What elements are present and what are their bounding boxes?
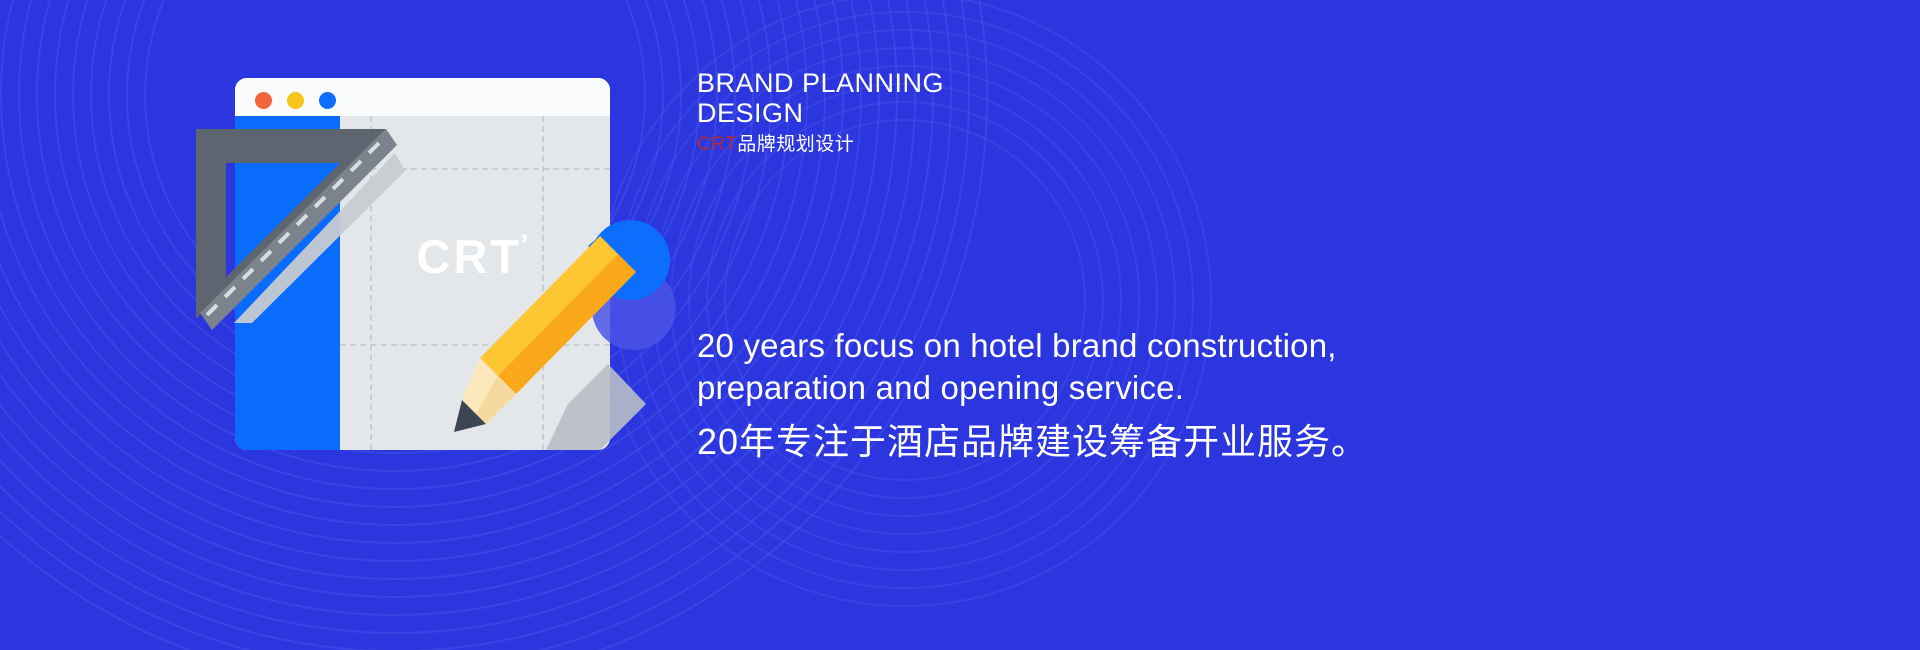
set-square-ruler-icon: [190, 123, 405, 338]
tagline-chinese: 20年专注于酒店品牌建设筹备开业服务。: [697, 419, 1877, 464]
tagline-block: 20 years focus on hotel brand constructi…: [697, 325, 1877, 464]
maximize-dot[interactable]: [319, 92, 336, 109]
kicker-heading: BRAND PLANNING DESIGN: [697, 68, 1847, 128]
pencil-icon: [450, 218, 690, 473]
brand-banner: CRT’: [0, 0, 1920, 650]
close-dot[interactable]: [255, 92, 272, 109]
minimize-dot[interactable]: [287, 92, 304, 109]
kicker-chinese-text: 品牌规划设计: [737, 134, 854, 155]
tagline-english-line1: 20 years focus on hotel brand constructi…: [697, 325, 1877, 367]
headline-block: BRAND PLANNING DESIGN CRT品牌规划设计: [697, 68, 1847, 157]
hero-illustration: CRT’: [190, 78, 690, 473]
tagline-english-line2: preparation and opening service.: [697, 367, 1877, 409]
kicker-subheading: CRT品牌规划设计: [697, 134, 1847, 157]
window-title-bar: [235, 78, 610, 116]
kicker-brand-text: CRT: [697, 134, 737, 155]
